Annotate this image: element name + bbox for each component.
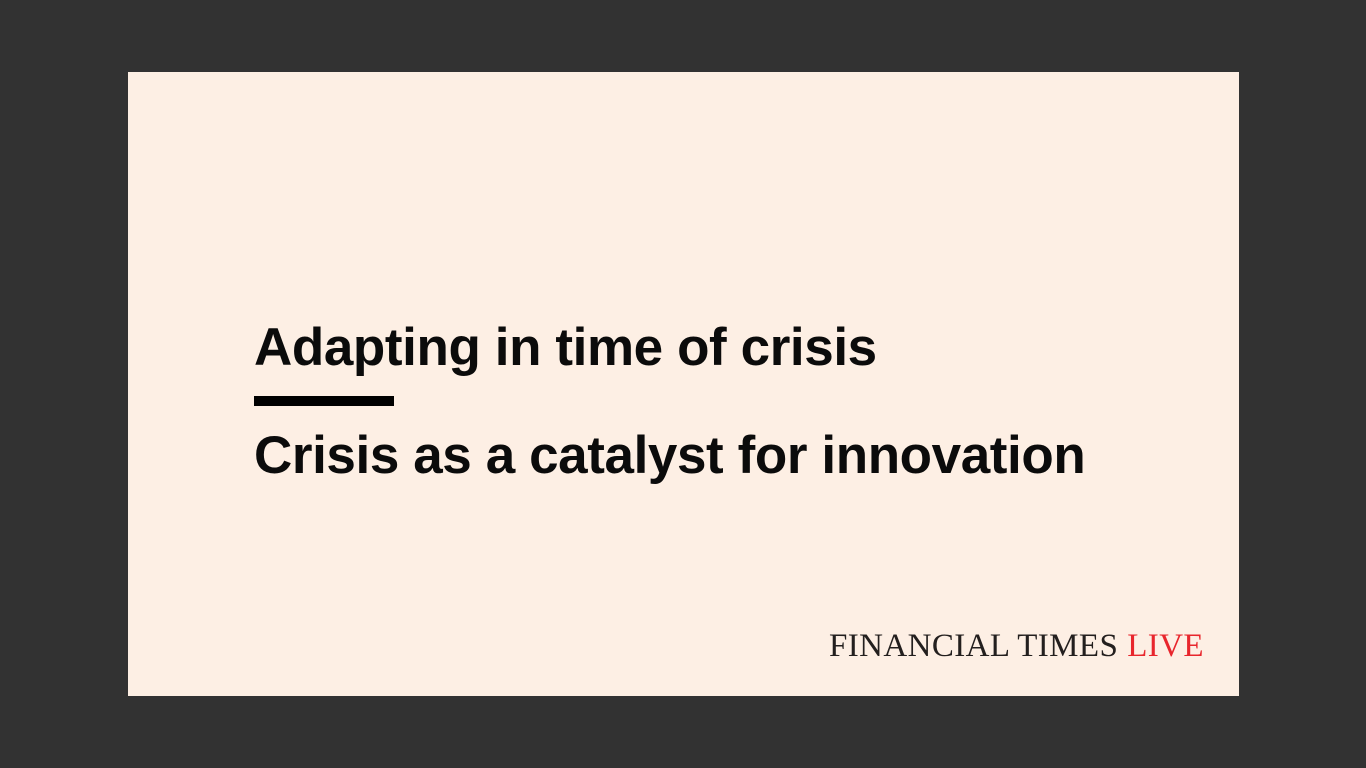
presentation-slide: Adapting in time of crisis Crisis as a c… [128, 72, 1239, 696]
brand-name-live: LIVE [1127, 630, 1204, 663]
slide-heading-primary: Adapting in time of crisis [254, 320, 1154, 376]
title-divider-rule [254, 396, 394, 406]
slide-stage: Adapting in time of crisis Crisis as a c… [0, 0, 1366, 768]
brand-name-financial-times: FINANCIAL TIMES [829, 630, 1118, 663]
slide-heading-secondary: Crisis as a catalyst for innovation [254, 428, 1154, 484]
financial-times-live-logo: FINANCIAL TIMES LIVE [829, 630, 1204, 663]
slide-title-block: Adapting in time of crisis Crisis as a c… [254, 320, 1154, 484]
